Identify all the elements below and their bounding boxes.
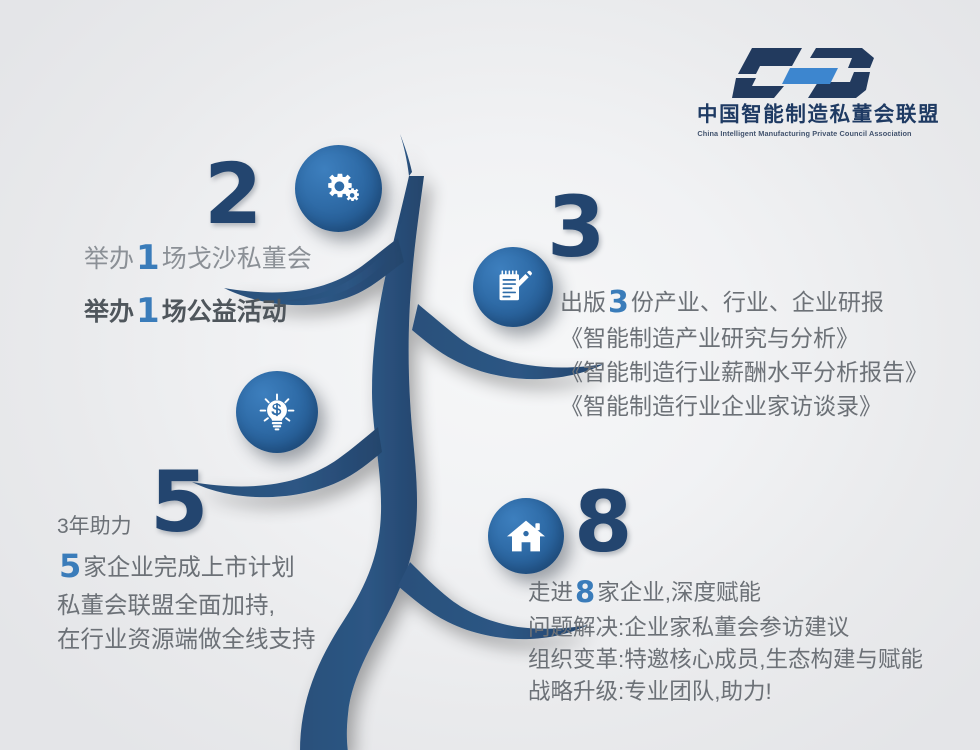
badge-gears[interactable]	[295, 145, 382, 232]
block2-line1-number: 1	[134, 238, 162, 278]
block2-line2-number: 1	[134, 291, 162, 331]
big-number-2: 2	[204, 152, 261, 236]
lightbulb-dollar-icon	[256, 391, 298, 433]
infographic-canvas: 中国智能制造私董会联盟 China Intelligent Manufactur…	[0, 0, 980, 750]
block2-line-2: 举办1场公益活动	[84, 287, 312, 331]
text-block-8: 走进8家企业,深度赋能 问题解决:企业家私董会参访建议 组织变革:特邀核心成员,…	[528, 572, 923, 709]
block8-line1-prefix: 走进	[528, 580, 573, 605]
text-block-5: 3年助力 5家企业完成上市计划 私董会联盟全面加持, 在行业资源端做全线支持	[57, 513, 316, 659]
block3-line1-prefix: 出版	[560, 289, 606, 315]
logo-english-name: China Intelligent Manufacturing Private …	[695, 129, 914, 138]
badge-notepad[interactable]	[473, 247, 553, 327]
brand-logo: 中国智能制造私董会联盟 China Intelligent Manufactur…	[697, 44, 912, 154]
cima-bracket-logo	[730, 44, 880, 100]
block8-line-1: 走进8家企业,深度赋能	[528, 572, 923, 610]
block8-line-3: 组织变革:特邀核心成员,生态构建与赋能	[528, 645, 923, 674]
block5-line-4: 在行业资源端做全线支持	[57, 624, 316, 655]
block5-line-1: 3年助力	[57, 513, 316, 540]
block8-line-2: 问题解决:企业家私董会参访建议	[528, 613, 923, 642]
block5-line-3: 私董会联盟全面加持,	[57, 590, 316, 621]
block3-line-1: 出版3份产业、行业、企业研报	[560, 281, 928, 320]
block3-line1-number: 3	[606, 285, 631, 320]
text-block-3: 出版3份产业、行业、企业研报 《智能制造产业研究与分析》 《智能制造行业薪酬水平…	[560, 281, 928, 426]
block2-line1-prefix: 举办	[84, 245, 134, 273]
block3-line-4: 《智能制造行业企业家访谈录》	[560, 392, 928, 422]
block5-line-2: 5家企业完成上市计划	[57, 544, 316, 586]
big-number-3: 3	[547, 185, 604, 269]
big-number-8: 8	[574, 480, 631, 564]
block3-line-2: 《智能制造产业研究与分析》	[560, 324, 928, 354]
notepad-pencil-icon	[494, 268, 532, 306]
block2-line-1: 举办1场戈沙私董会	[84, 234, 312, 278]
block8-line-4: 战略升级:专业团队,助力!	[528, 677, 923, 706]
block3-line-3: 《智能制造行业薪酬水平分析报告》	[560, 358, 928, 388]
block2-line1-suffix: 场戈沙私董会	[162, 245, 312, 273]
block8-line1-suffix: 家企业,深度赋能	[597, 580, 761, 605]
block5-line2-number: 5	[57, 547, 83, 585]
text-block-2: 举办1场戈沙私董会 举办1场公益活动	[84, 234, 312, 331]
logo-chinese-name: 中国智能制造私董会联盟	[697, 104, 912, 126]
home-icon	[506, 518, 546, 554]
block2-line2-suffix: 场公益活动	[162, 298, 287, 326]
block2-line2-prefix: 举办	[84, 298, 134, 326]
block5-line2-suffix: 家企业完成上市计划	[83, 554, 295, 580]
badge-home[interactable]	[488, 498, 564, 574]
block3-line1-suffix: 份产业、行业、企业研报	[631, 289, 884, 315]
gears-icon	[316, 169, 362, 209]
badge-lightbulb-dollar[interactable]	[236, 371, 318, 453]
block8-line1-number: 8	[573, 575, 597, 609]
